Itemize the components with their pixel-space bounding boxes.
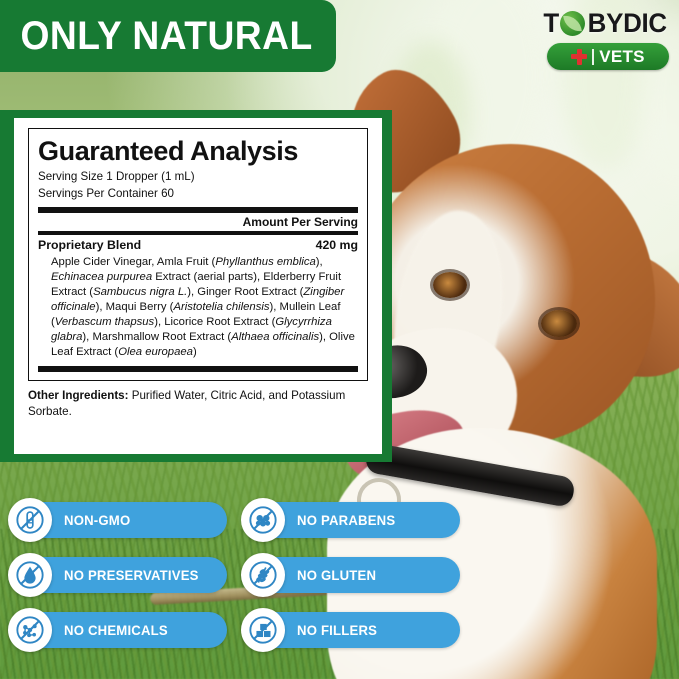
vets-badge-label: VETS	[599, 47, 645, 67]
analysis-table: Guaranteed Analysis Serving Size 1 Dropp…	[28, 128, 368, 381]
other-ingredients: Other Ingredients: Purified Water, Citri…	[28, 388, 368, 420]
blend-amount: 420 mg	[316, 238, 358, 252]
wheat-no-icon	[241, 553, 285, 597]
badge-label: NO PRESERVATIVES	[64, 567, 199, 583]
dog-eye-right	[541, 310, 577, 337]
chemical-structure-no-icon	[8, 608, 52, 652]
badge-label: NO GLUTEN	[297, 567, 376, 583]
badge-row-3: NO CHEMICALS NO FILLERS	[8, 608, 460, 652]
servings-per-container: Servings Per Container 60	[38, 186, 358, 202]
badge-label: NON-GMO	[64, 512, 130, 528]
badge-row-2: NO PRESERVATIVES	[8, 553, 460, 597]
cubes-no-icon	[241, 608, 285, 652]
brand-name-suffix: BYDIC	[588, 8, 667, 39]
ingredient-list: Apple Cider Vinegar, Amla Fruit (Phyllan…	[51, 255, 358, 361]
badge-bar	[34, 502, 227, 538]
water-drop-no-icon	[8, 553, 52, 597]
serving-size: Serving Size 1 Dropper (1 mL)	[38, 169, 358, 185]
dog-eye-left	[433, 272, 467, 298]
leaf-circle-icon	[560, 11, 585, 36]
brand-name-prefix: T	[544, 8, 560, 39]
badge-no-preservatives: NO PRESERVATIVES	[8, 553, 227, 597]
badge-no-gluten: NO GLUTEN	[241, 553, 460, 597]
badge-row-1: NON-GMO NO PARABENS	[8, 498, 460, 542]
only-natural-banner: ONLY NATURAL	[0, 0, 336, 72]
vets-badge: VETS	[547, 43, 669, 70]
badge-label: NO PARABENS	[297, 512, 395, 528]
brand-wordmark: T BYDIC	[487, 8, 669, 39]
badge-no-chemicals: NO CHEMICALS	[8, 608, 227, 652]
product-label-image: ONLY NATURAL T BYDIC VETS Guaranteed Ana…	[0, 0, 679, 679]
test-tube-no-icon	[8, 498, 52, 542]
guaranteed-analysis-card: Guaranteed Analysis Serving Size 1 Dropp…	[0, 110, 392, 462]
badge-divider	[592, 49, 594, 65]
brand-logo: T BYDIC VETS	[487, 8, 669, 70]
red-cross-icon	[571, 49, 587, 65]
other-ingredients-label: Other Ingredients:	[28, 389, 129, 402]
feature-badge-grid: NON-GMO NO PARABENS	[8, 498, 460, 663]
badge-non-gmo: NON-GMO	[8, 498, 227, 542]
badge-label: NO CHEMICALS	[64, 622, 168, 638]
badge-no-fillers: NO FILLERS	[241, 608, 460, 652]
blend-name: Proprietary Blend	[38, 238, 141, 252]
banner-text: ONLY NATURAL	[0, 14, 313, 59]
molecule-cluster-no-icon	[241, 498, 285, 542]
badge-no-parabens: NO PARABENS	[241, 498, 460, 542]
badge-label: NO FILLERS	[297, 622, 377, 638]
amount-per-serving-header: Amount Per Serving	[38, 215, 358, 229]
rule-thick-bottom	[38, 366, 358, 372]
analysis-card-inner: Guaranteed Analysis Serving Size 1 Dropp…	[14, 118, 382, 454]
rule-under-header	[38, 231, 358, 234]
analysis-title: Guaranteed Analysis	[38, 137, 358, 165]
rule-thick-top	[38, 207, 358, 213]
proprietary-blend-row: Proprietary Blend 420 mg	[38, 238, 358, 252]
